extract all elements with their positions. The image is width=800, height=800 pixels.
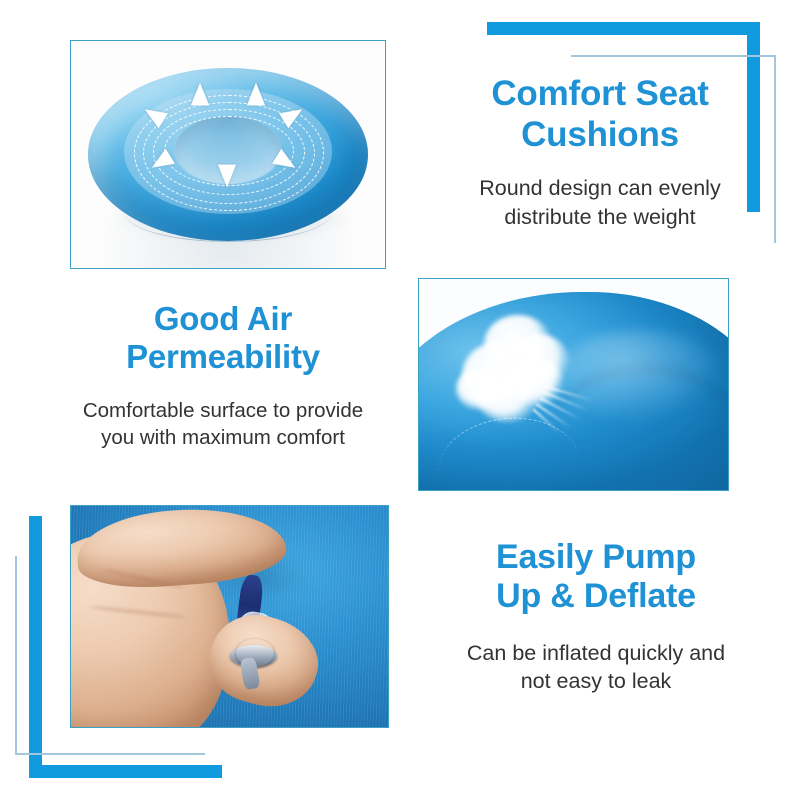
comfort-headline: Comfort Seat Cushions — [404, 74, 796, 155]
pump-subtext: Can be inflated quickly and not easy to … — [400, 639, 792, 696]
air-subtext: Comfortable surface to provide you with … — [28, 397, 418, 451]
comfort-text-block: Comfort Seat Cushions Round design can e… — [404, 74, 796, 231]
cloud-photo-art — [419, 279, 728, 490]
bracket-thin-bottom-line — [15, 753, 205, 755]
arrow-up-left — [191, 83, 209, 106]
donut-photo-art — [71, 41, 385, 268]
comfort-subtext: Round design can evenly distribute the w… — [404, 174, 796, 231]
air-permeability-photo — [418, 278, 729, 491]
bracket-top-bar — [487, 22, 760, 35]
pump-headline: Easily Pump Up & Deflate — [400, 538, 792, 617]
arrow-down — [217, 164, 235, 187]
infographic-page: Comfort Seat Cushions Round design can e… — [0, 0, 800, 800]
bracket-thin-left-line — [15, 556, 17, 755]
bracket-left-bar — [29, 516, 42, 778]
bracket-thin-top-line — [571, 55, 776, 57]
air-headline: Good Air Permeability — [28, 300, 418, 377]
donut-cushion-photo — [70, 40, 386, 269]
pump-text-block: Easily Pump Up & Deflate Can be inflated… — [400, 538, 792, 696]
bracket-bottom-bar — [29, 765, 222, 778]
air-text-block: Good Air Permeability Comfortable surfac… — [28, 300, 418, 451]
arrow-up-right — [247, 83, 265, 106]
cushion-highlight — [555, 330, 722, 423]
pump-valve-photo — [70, 505, 389, 728]
valve-photo-art — [71, 506, 388, 727]
cloud-puff — [456, 368, 505, 410]
